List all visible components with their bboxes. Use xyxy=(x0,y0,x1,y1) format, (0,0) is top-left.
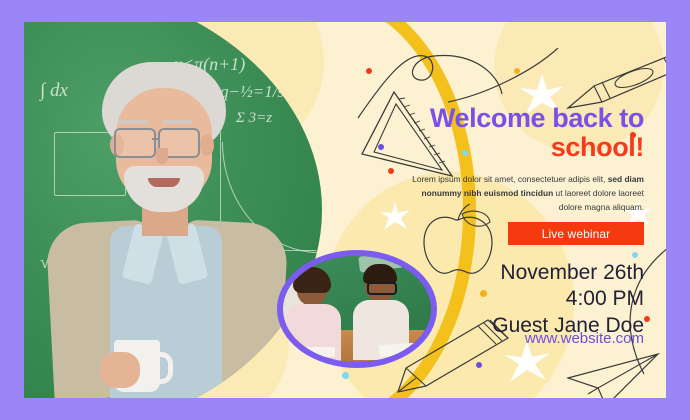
student-girl xyxy=(297,272,327,306)
mouth xyxy=(148,178,180,187)
event-date: November 26th xyxy=(384,260,644,286)
teacher-figure xyxy=(44,62,294,398)
headline-line-1: Welcome back to xyxy=(430,103,644,133)
page-title: Welcome back to school! xyxy=(324,104,644,162)
hand xyxy=(100,352,140,388)
eyebrow-right xyxy=(162,120,192,124)
event-details: November 26th 4:00 PM Guest Jane Doe xyxy=(384,260,644,339)
banner-card: ∫ dx x<π(n+1) q−½=1/s Σ 3=z √x xyxy=(24,22,666,398)
body-paragraph: Lorem ipsum dolor sit amet, consectetuer… xyxy=(409,173,644,214)
accent-dot xyxy=(388,168,394,174)
live-webinar-button[interactable]: Live webinar xyxy=(508,222,644,245)
accent-dot xyxy=(514,68,520,74)
eyebrow-left xyxy=(118,120,148,124)
nose xyxy=(156,148,168,164)
accent-dot xyxy=(644,316,650,322)
body-tail: ut laoreet dolore laoreet dolore magna a… xyxy=(553,188,644,212)
headline-line-2: school! xyxy=(324,133,644,162)
eyeglass-left xyxy=(114,128,156,158)
accent-dot xyxy=(342,372,349,379)
live-webinar-button-label: Live webinar xyxy=(542,227,611,241)
accent-dot xyxy=(632,252,638,258)
accent-dot xyxy=(366,68,372,74)
ear-right xyxy=(200,134,214,156)
beard xyxy=(124,166,204,212)
body-lead: Lorem ipsum dolor sit amet, consectetuer… xyxy=(412,174,608,184)
back-to-school-banner: ∫ dx x<π(n+1) q−½=1/s Σ 3=z √x xyxy=(0,0,690,420)
sparkle-star-icon xyxy=(380,202,410,232)
accent-dot xyxy=(476,362,482,368)
notebook xyxy=(305,347,335,357)
eyeglass-bridge xyxy=(152,138,160,140)
website-link[interactable]: www.website.com xyxy=(384,330,644,347)
event-time: 4:00 PM xyxy=(384,286,644,312)
teacher-photo: ∫ dx x<π(n+1) q−½=1/s Σ 3=z √x xyxy=(24,22,324,398)
